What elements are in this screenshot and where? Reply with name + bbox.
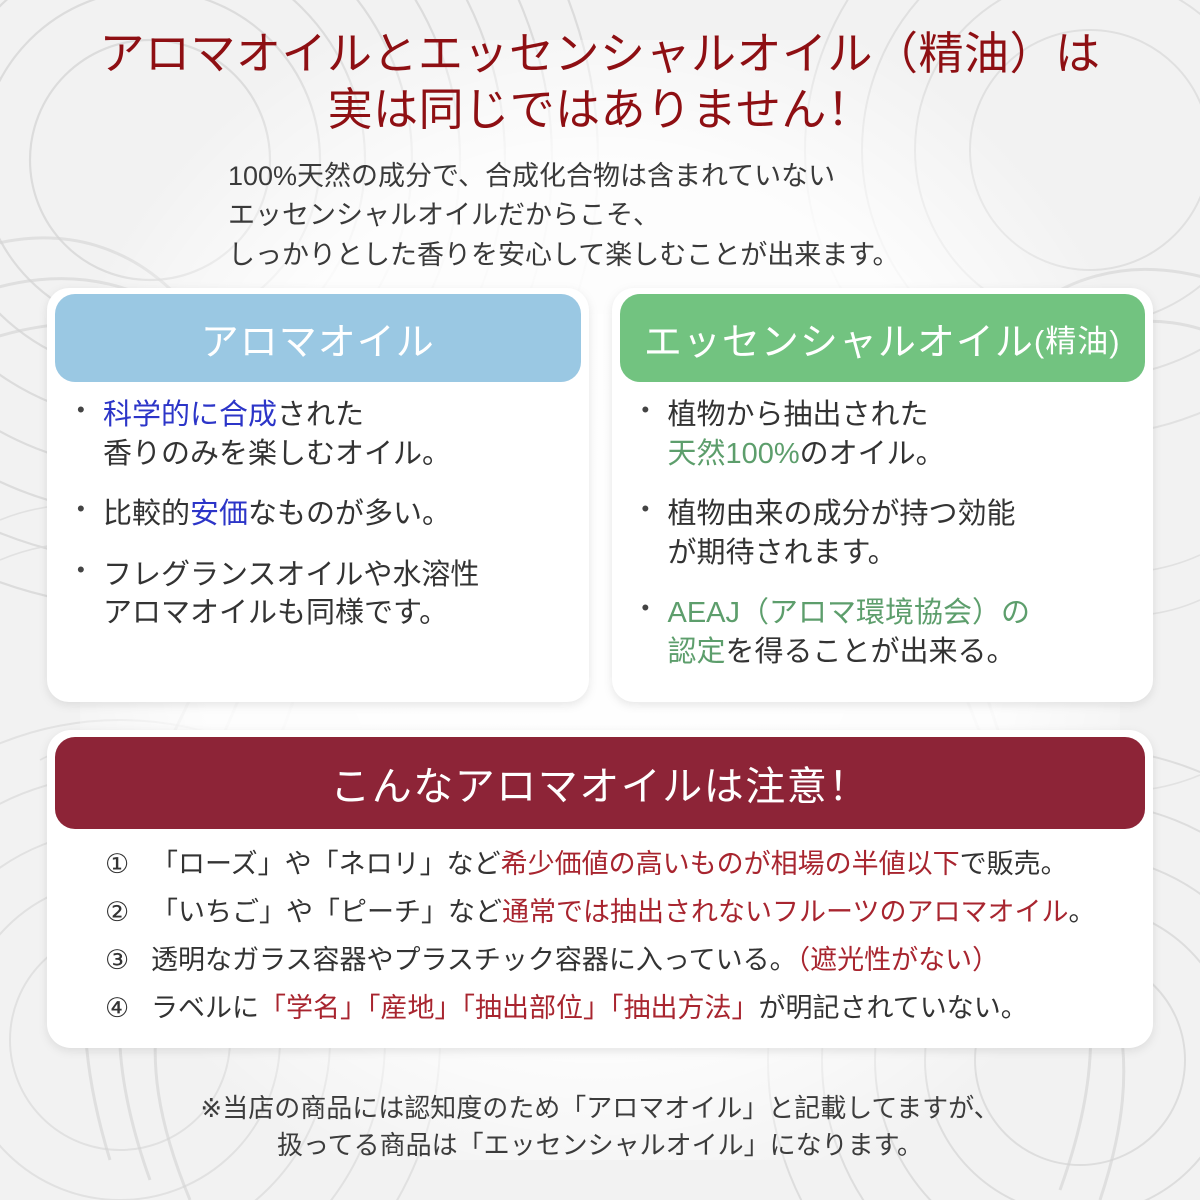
footnote-line-1: ※当店の商品には認知度のため「アロマオイル」と記載してますが、 — [0, 1090, 1200, 1127]
lede-line-1: 100%天然の成分で、合成化合物は含まれていない — [228, 157, 1200, 197]
footnote: ※当店の商品には認知度のため「アロマオイル」と記載してますが、 扱ってる商品は「… — [0, 1090, 1200, 1164]
bullet-text: なものが多い。 — [248, 498, 451, 530]
list-item: ②「いちご」や「ピーチ」など通常では抽出されないフルーツのアロマオイル。 — [105, 899, 1123, 926]
bullet-text-line2: のオイル。 — [800, 438, 945, 470]
bullet-text-line2: が期待されます。 — [668, 537, 897, 569]
list-item: 植物由来の成分が持つ効能 が期待されます。 — [638, 495, 1136, 572]
card-header-paren-essential-oil: (精油) — [1034, 316, 1121, 361]
title-line-1: アロマオイルとエッセンシャルオイル（精油）は — [0, 26, 1200, 82]
lede-line-3: しっかりとした香りを安心して楽しむことが出来ます。 — [228, 236, 1200, 276]
bullet-text-line2: アロマオイルも同様です。 — [103, 597, 448, 629]
bullet-text: 植物から抽出された — [668, 399, 929, 431]
card-header-aroma-oil: アロマオイル — [55, 294, 581, 382]
item-highlight: 希少価値の高いものが相場の半値以下 — [501, 849, 960, 879]
caution-panel: こんなアロマオイルは注意！ ①「ローズ」や「ネロリ」など希少価値の高いものが相場… — [47, 730, 1153, 1048]
infographic-page: アロマオイルとエッセンシャルオイル（精油）は 実は同じではありません！ 100%… — [0, 0, 1200, 1200]
bullet-highlight-line2: 認定 — [668, 636, 726, 668]
comparison-cards: アロマオイル 科学的に合成された 香りのみを楽しむオイル。 比較的安価なものが多… — [47, 288, 1153, 702]
title-line-2: 実は同じではありません！ — [0, 82, 1200, 138]
bullet-list-aroma-oil: 科学的に合成された 香りのみを楽しむオイル。 比較的安価なものが多い。 フレグラ… — [47, 396, 589, 633]
bullet-text: 植物由来の成分が持つ効能 — [668, 498, 1016, 530]
caution-item-list: ①「ローズ」や「ネロリ」など希少価値の高いものが相場の半値以下で販売。 ②「いち… — [47, 851, 1153, 1022]
card-header-essential-oil: エッセンシャルオイル(精油) — [620, 294, 1146, 382]
bullet-highlight: 科学的に合成 — [103, 399, 277, 431]
item-suffix: が明記されていない。 — [759, 993, 1028, 1023]
page-title: アロマオイルとエッセンシャルオイル（精油）は 実は同じではありません！ — [0, 0, 1200, 139]
item-number: ① — [105, 851, 129, 878]
list-item: 植物から抽出された 天然100%のオイル。 — [638, 396, 1136, 473]
caution-banner: こんなアロマオイルは注意！ — [55, 737, 1145, 829]
lede-paragraph: 100%天然の成分で、合成化合物は含まれていない エッセンシャルオイルだからこそ… — [0, 157, 1200, 277]
item-highlight: 通常では抽出されないフルーツのアロマオイル — [502, 897, 1068, 927]
item-number: ③ — [105, 947, 129, 974]
bullet-text-line2: 香りのみを楽しむオイル。 — [103, 438, 451, 470]
bullet-highlight: 安価 — [190, 498, 248, 530]
bullet-list-essential-oil: 植物から抽出された 天然100%のオイル。 植物由来の成分が持つ効能 が期待され… — [612, 396, 1154, 671]
caution-banner-label: こんなアロマオイルは注意！ — [330, 754, 870, 812]
list-item: ③透明なガラス容器やプラスチック容器に入っている。（遮光性がない） — [105, 947, 1123, 974]
card-header-label-essential-oil: エッセンシャルオイル — [644, 311, 1034, 366]
item-suffix: 。 — [1068, 897, 1095, 927]
bullet-highlight-line2: 天然100% — [668, 438, 800, 470]
item-prefix: 「ローズ」や「ネロリ」など — [151, 849, 501, 879]
item-highlight: （遮光性がない） — [797, 945, 1000, 975]
bullet-text: された — [277, 399, 364, 431]
bullet-text-line2: を得ることが出来る。 — [726, 636, 1016, 668]
list-item: 比較的安価なものが多い。 — [73, 495, 571, 534]
item-highlight: 「学名」「産地」「抽出部位」「抽出方法」 — [259, 993, 759, 1023]
list-item: ④ラベルに「学名」「産地」「抽出部位」「抽出方法」が明記されていない。 — [105, 995, 1123, 1022]
item-number: ② — [105, 899, 129, 926]
item-prefix: 透明なガラス容器やプラスチック容器に入っている。 — [151, 945, 797, 975]
bullet-highlight: AEAJ（アロマ環境協会）の — [668, 597, 1031, 629]
footnote-line-2: 扱ってる商品は「エッセンシャルオイル」になります。 — [0, 1127, 1200, 1164]
bullet-prefix: 比較的 — [103, 498, 190, 530]
list-item: AEAJ（アロマ環境協会）の 認定を得ることが出来る。 — [638, 594, 1136, 671]
list-item: フレグランスオイルや水溶性 アロマオイルも同様です。 — [73, 556, 571, 633]
card-essential-oil: エッセンシャルオイル(精油) 植物から抽出された 天然100%のオイル。 植物由… — [612, 288, 1154, 702]
item-number: ④ — [105, 995, 129, 1022]
item-prefix: 「いちご」や「ピーチ」など — [151, 897, 502, 927]
card-aroma-oil: アロマオイル 科学的に合成された 香りのみを楽しむオイル。 比較的安価なものが多… — [47, 288, 589, 702]
lede-line-2: エッセンシャルオイルだからこそ、 — [228, 196, 1200, 236]
bullet-text: フレグランスオイルや水溶性 — [103, 559, 479, 591]
item-prefix: ラベルに — [151, 993, 259, 1023]
list-item: 科学的に合成された 香りのみを楽しむオイル。 — [73, 396, 571, 473]
item-suffix: で販売。 — [960, 849, 1068, 879]
list-item: ①「ローズ」や「ネロリ」など希少価値の高いものが相場の半値以下で販売。 — [105, 851, 1123, 878]
card-header-label-aroma-oil: アロマオイル — [201, 311, 435, 366]
